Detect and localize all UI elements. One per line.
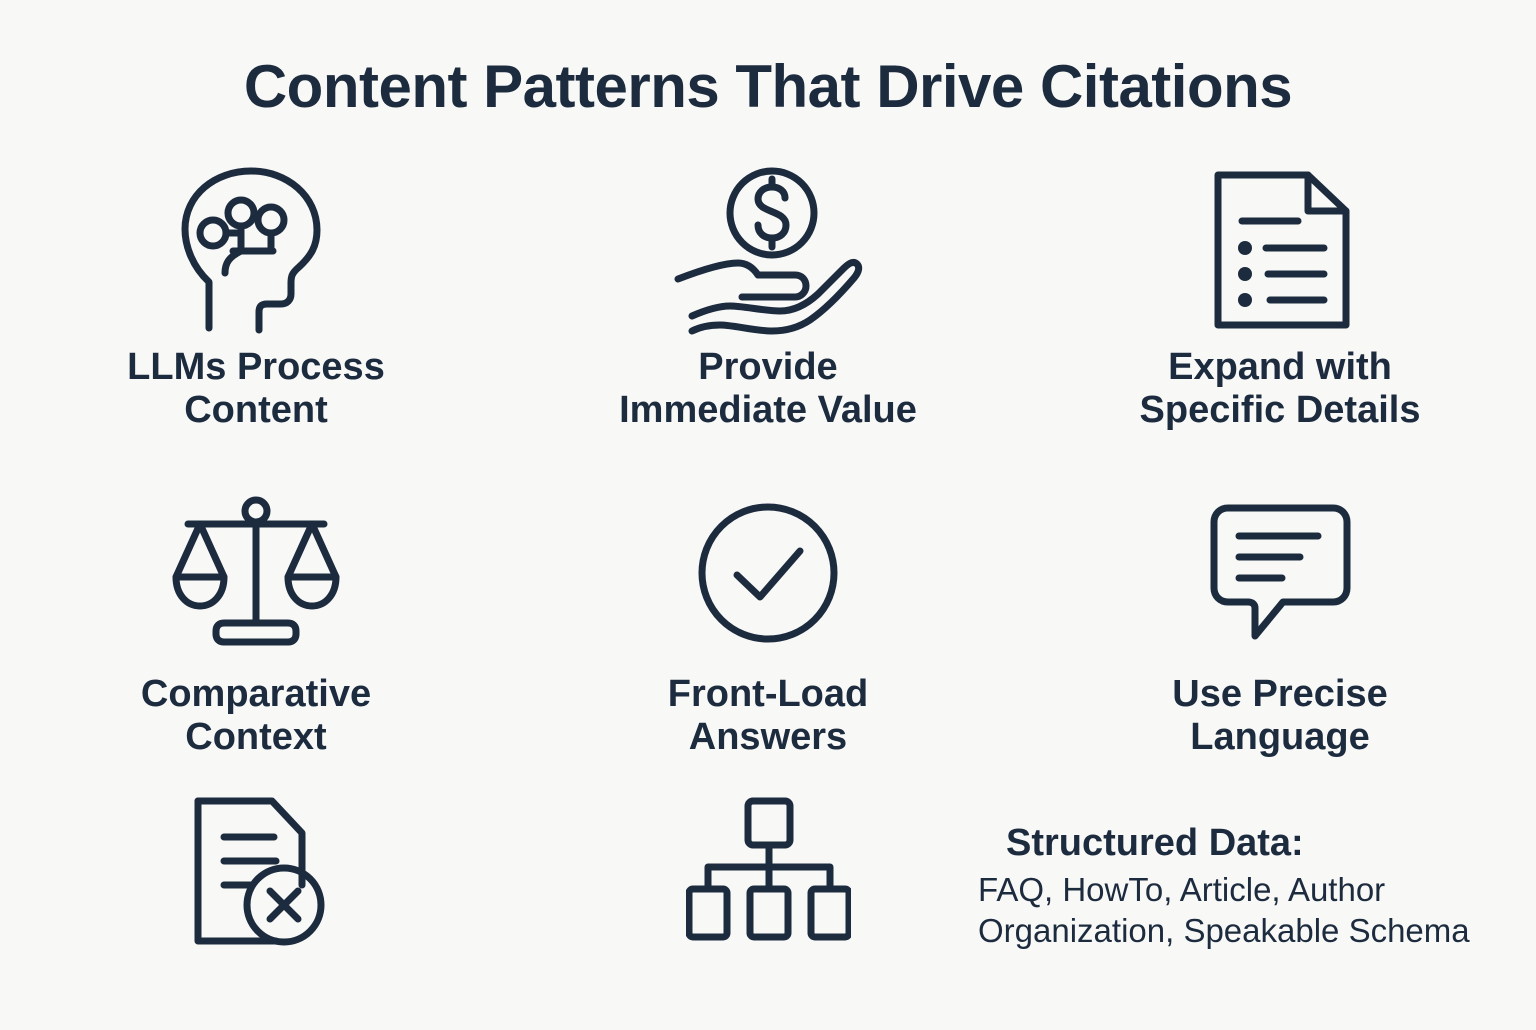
grid-cell-provide-immediate-value: Provide Immediate Value [512, 160, 1024, 490]
speech-bubble-icon [1208, 490, 1353, 655]
structured-data-block: Structured Data: FAQ, HowTo, Article, Au… [978, 822, 1536, 951]
check-circle-icon [693, 490, 843, 655]
structured-data-list: FAQ, HowTo, Article, Author Organization… [978, 869, 1536, 952]
grid-cell-comparative-context: Comparative Context [0, 490, 512, 790]
pattern-label: Use Precise Language [1172, 673, 1388, 758]
grid-cell-use-precise-language: Use Precise Language [1024, 490, 1536, 790]
pattern-label: LLMs Process Content [127, 346, 385, 431]
page-title: Content Patterns That Drive Citations [0, 52, 1536, 121]
structured-data-heading: Structured Data: [978, 822, 1536, 865]
pattern-label: Provide Immediate Value [619, 346, 917, 431]
grid-cell-structured-hierarchy [512, 790, 1024, 1030]
grid-cell-front-load-answers: Front-Load Answers [512, 490, 1024, 790]
balance-scale-icon [166, 490, 346, 655]
document-list-icon [1200, 160, 1360, 340]
pattern-label: Front-Load Answers [668, 673, 869, 758]
grid-cell-document-rejected [0, 790, 512, 1030]
grid-cell-llms-process-content: LLMs Process Content [0, 160, 512, 490]
infographic-canvas: Content Patterns That Drive Citations LL… [0, 0, 1536, 1024]
document-x-icon [184, 790, 329, 950]
hand-holding-coin-icon [668, 160, 868, 340]
hierarchy-icon [686, 790, 851, 950]
grid-cell-expand-with-specific-details: Expand with Specific Details [1024, 160, 1536, 490]
pattern-label: Expand with Specific Details [1140, 346, 1421, 431]
ai-head-icon [171, 160, 341, 340]
pattern-label: Comparative Context [141, 673, 371, 758]
